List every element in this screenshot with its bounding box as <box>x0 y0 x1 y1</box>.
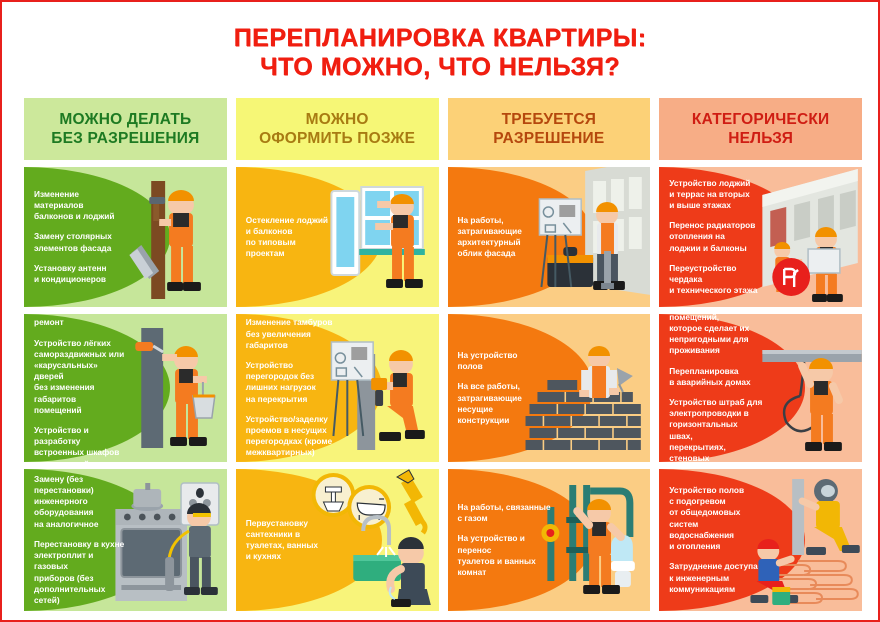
cell-loggias-radiators-attic: Устройство лоджий и террас на вторых и в… <box>659 167 862 307</box>
cell-text-list: Косметический ремонт Устройство лёгких с… <box>34 314 127 462</box>
cell-balcony-materials: Изменение материалов балконов и лоджий З… <box>24 167 227 307</box>
column-header-line-1: ТРЕБУЕТСЯ <box>493 110 604 129</box>
cell-text-list: Устройство лоджий и террас на вторых и в… <box>669 167 762 307</box>
cell-text-list: Остекление лоджий и балконов по типовым … <box>246 167 339 307</box>
list-item: Устройство лёгких самораздвижных или «ка… <box>34 338 127 416</box>
column-header-line-2: НЕЛЬЗЯ <box>692 129 829 148</box>
cell-text-list: Устройство полов с подогревом от общедом… <box>669 469 762 611</box>
list-item: Изменение тамбуров без увеличения габари… <box>246 317 339 351</box>
list-item: Переустройство чердака и технического эт… <box>669 263 762 297</box>
cell-text-list: Замену (без перестановки) инженерного об… <box>34 469 127 611</box>
list-item: На работы, затрагивающие архитектурный о… <box>458 215 551 260</box>
list-item: На все работы, затрагивающие несущие кон… <box>458 381 551 426</box>
cell-text-list: Переустройство помещений, которое сделае… <box>669 314 762 462</box>
list-item: Косметический ремонт <box>34 314 127 329</box>
cell-cosmetic-repair: Косметический ремонт Устройство лёгких с… <box>24 314 227 462</box>
cell-heated-floors: Устройство полов с подогревом от общедом… <box>659 469 862 611</box>
list-item: Устройство перегородок без лишних нагруз… <box>246 360 339 405</box>
page-title: ПЕРЕПЛАНИРОВКА КВАРТИРЫ: ЧТО МОЖНО, ЧТО … <box>2 2 878 82</box>
list-item: Устройство полов с подогревом от общедом… <box>669 485 762 552</box>
cell-unfit-dwelling: Переустройство помещений, которое сделае… <box>659 314 862 462</box>
list-item: Устройство/заделку проемов в несущих пер… <box>246 414 339 459</box>
cell-text-list: На работы, связанные с газом На устройст… <box>458 469 551 611</box>
list-item: Затруднение доступа к инженерным коммуни… <box>669 561 762 595</box>
list-item: Первустановку сантехники в туалетах, ван… <box>246 518 339 563</box>
column-header-allowed-no-permit: МОЖНО ДЕЛАТЬ БЕЗ РАЗРЕШЕНИЯ <box>24 98 227 160</box>
page-title-line-2: ЧТО МОЖНО, ЧТО НЕЛЬЗЯ? <box>2 53 878 82</box>
list-item: Устройство штраб для электропроводки в г… <box>669 397 762 462</box>
poster-root: ПЕРЕПЛАНИРОВКА КВАРТИРЫ: ЧТО МОЖНО, ЧТО … <box>0 0 880 622</box>
list-item: Устройство лоджий и террас на вторых и в… <box>669 178 762 212</box>
list-item: Перестановку в кухне электроплит и газов… <box>34 539 127 606</box>
list-item: Установку антенн и кондиционеров <box>34 263 127 285</box>
list-item: Устройство и разработку встроенных шкафо… <box>34 425 127 462</box>
list-item: На устройство полов <box>458 350 551 372</box>
column-header-permit-required: ТРЕБУЕТСЯ РАЗРЕШЕНИЕ <box>448 98 651 160</box>
column-header-line-1: МОЖНО <box>259 110 415 129</box>
content-grid: МОЖНО ДЕЛАТЬ БЕЗ РАЗРЕШЕНИЯ МОЖНО ОФОРМИ… <box>24 98 862 610</box>
column-header-strictly-forbidden: КАТЕГОРИЧЕСКИ НЕЛЬЗЯ <box>659 98 862 160</box>
list-item: Переустройство помещений, которое сделае… <box>669 314 762 357</box>
column-header-line-1: МОЖНО ДЕЛАТЬ <box>51 110 199 129</box>
cell-text-list: Изменение тамбуров без увеличения габари… <box>246 314 339 462</box>
column-header-line-2: ОФОРМИТЬ ПОЗЖЕ <box>259 129 415 148</box>
cell-gas-bathrooms: На работы, связанные с газом На устройст… <box>448 469 651 611</box>
list-item: Изменение материалов балконов и лоджий <box>34 189 127 223</box>
cell-text-list: Первустановку сантехники в туалетах, ван… <box>246 469 339 611</box>
cell-text-list: Изменение материалов балконов и лоджий З… <box>34 167 127 307</box>
column-header-line-1: КАТЕГОРИЧЕСКИ <box>692 110 829 129</box>
list-item: Остекление лоджий и балконов по типовым … <box>246 215 339 260</box>
cell-facade-appearance: На работы, затрагивающие архитектурный о… <box>448 167 651 307</box>
list-item: Перенос радиаторов отопления на лоджии и… <box>669 220 762 254</box>
column-header-line-2: БЕЗ РАЗРЕШЕНИЯ <box>51 129 199 148</box>
cell-plumbing-install: Первустановку сантехники в туалетах, ван… <box>236 469 439 611</box>
column-header-register-later: МОЖНО ОФОРМИТЬ ПОЗЖЕ <box>236 98 439 160</box>
list-item: На работы, связанные с газом <box>458 502 551 524</box>
cell-floors-bearing: На устройство полов На все работы, затра… <box>448 314 651 462</box>
cell-text-list: На работы, затрагивающие архитектурный о… <box>458 167 551 307</box>
list-item: Замену столярных элементов фасада <box>34 231 127 253</box>
cell-text-list: На устройство полов На все работы, затра… <box>458 314 551 462</box>
page-title-line-1: ПЕРЕПЛАНИРОВКА КВАРТИРЫ: <box>2 24 878 53</box>
cell-equipment-replacement: Замену (без перестановки) инженерного об… <box>24 469 227 611</box>
cell-vestibule-partitions: Изменение тамбуров без увеличения габари… <box>236 314 439 462</box>
cell-glazing-loggias: Остекление лоджий и балконов по типовым … <box>236 167 439 307</box>
column-header-line-2: РАЗРЕШЕНИЕ <box>493 129 604 148</box>
list-item: Перепланировка в аварийных домах <box>669 366 762 388</box>
list-item: На устройство и перенос туалетов и ванны… <box>458 533 551 578</box>
list-item: Замену (без перестановки) инженерного об… <box>34 474 127 530</box>
